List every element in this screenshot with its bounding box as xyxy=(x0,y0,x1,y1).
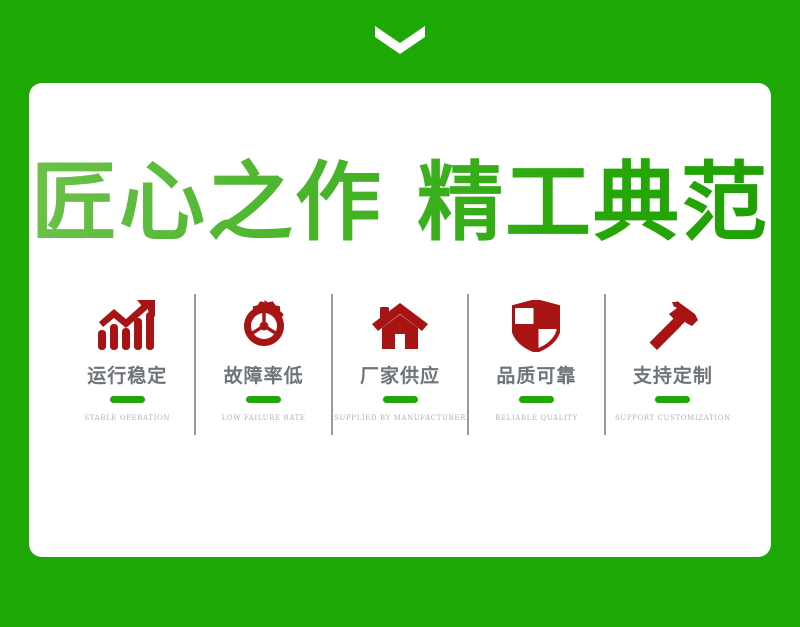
feature-subtitle: SUPPORT CUSTOMIZATION xyxy=(615,414,731,422)
feature-item-stable-operation: 运行稳定 STABLE OPERATION xyxy=(59,290,195,440)
house-factory-icon xyxy=(372,298,428,354)
feature-subtitle: SUPPLIED BY MANUFACTURER xyxy=(334,414,466,422)
gear-icon xyxy=(238,298,290,354)
feature-label: 运行稳定 xyxy=(87,361,167,388)
feature-item-supplied-by-manufacturer: 厂家供应 SUPPLIED BY MANUFACTURER xyxy=(332,290,468,440)
content-card: 匠心之作精工典范 运行稳定 S xyxy=(29,83,771,557)
page-title-part1: 匠心之作 xyxy=(31,153,383,253)
bar-chart-growth-icon xyxy=(96,298,158,354)
feature-item-support-customization: 支持定制 SUPPORT CUSTOMIZATION xyxy=(605,290,741,440)
shield-check-icon xyxy=(512,298,560,354)
feature-underline-bar xyxy=(246,396,281,403)
feature-subtitle: STABLE OPERATION xyxy=(84,414,170,422)
feature-label: 支持定制 xyxy=(633,361,713,388)
feature-label: 品质可靠 xyxy=(496,361,576,388)
feature-subtitle: RELIABLE QUALITY xyxy=(495,414,578,422)
feature-underline-bar xyxy=(655,396,690,403)
chevron-down-icon xyxy=(373,24,427,56)
feature-underline-bar xyxy=(383,396,418,403)
feature-label: 故障率低 xyxy=(224,361,304,388)
top-chevron-banner xyxy=(0,24,800,60)
feature-list: 运行稳定 STABLE OPERATION xyxy=(59,290,741,440)
feature-underline-bar xyxy=(519,396,554,403)
feature-item-low-failure-rate: 故障率低 LOW FAILURE RATE xyxy=(195,290,331,440)
feature-underline-bar xyxy=(110,396,145,403)
feature-subtitle: LOW FAILURE RATE xyxy=(222,414,306,422)
feature-item-reliable-quality: 品质可靠 RELIABLE QUALITY xyxy=(468,290,604,440)
page-title: 匠心之作精工典范 xyxy=(29,155,771,251)
hammer-icon xyxy=(646,298,700,354)
feature-label: 厂家供应 xyxy=(360,361,440,388)
page-title-part2: 精工典范 xyxy=(417,153,769,253)
